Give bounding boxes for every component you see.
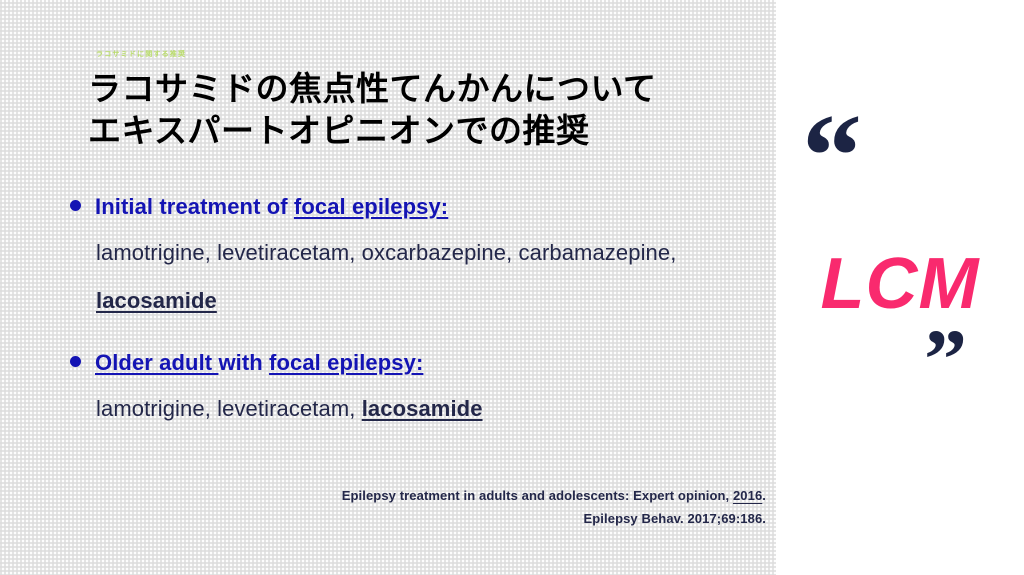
bullet-1-highlighted-drug: lacosamide: [96, 288, 217, 313]
bullet-dot-icon: [70, 200, 81, 211]
bullet-2-highlighted-drug: lacosamide: [362, 396, 483, 421]
bullet-1-heading-underlined: focal epilepsy:: [294, 194, 448, 219]
bullet-2-heading-underlined-2: focal epilepsy:: [269, 350, 423, 375]
citation-line-1-period: .: [762, 488, 766, 503]
citation-year: 2016: [733, 488, 762, 503]
bullet-2-heading-underlined-1: Older adult: [95, 350, 218, 375]
bullet-dot-icon: [70, 356, 81, 367]
citation-line-1-text: Epilepsy treatment in adults and adolesc…: [342, 488, 733, 503]
slide-canvas: ラコサミドに関する推奨 ラコサミドの焦点性てんかんについて エキスパートオピニオ…: [0, 0, 1024, 575]
page-title-line-1: ラコサミドの焦点性てんかんについて: [88, 68, 748, 110]
bullet-2-drug-list: lamotrigine, levetiracetam,: [96, 396, 362, 421]
left-content-area: ラコサミドに関する推奨 ラコサミドの焦点性てんかんについて エキスパートオピニオ…: [0, 0, 1024, 575]
bullet-2-heading: Older adult with focal epilepsy:: [95, 350, 423, 376]
eyebrow-label: ラコサミドに関する推奨: [96, 49, 186, 60]
citation-line-2: Epilepsy Behav. 2017;69:186.: [342, 507, 766, 530]
page-title: ラコサミドの焦点性てんかんについて エキスパートオピニオンでの推奨: [88, 68, 748, 152]
page-title-line-2: エキスパートオピニオンでの推奨: [88, 110, 748, 152]
citation-block: Epilepsy treatment in adults and adolesc…: [342, 484, 766, 530]
bullet-1-drug-list: lamotrigine, levetiracetam, oxcarbazepin…: [96, 240, 676, 265]
citation-line-1: Epilepsy treatment in adults and adolesc…: [342, 484, 766, 507]
bullet-item-initial-treatment: Initial treatment of focal epilepsy:: [70, 194, 448, 220]
bullet-item-older-adult: Older adult with focal epilepsy:: [70, 350, 423, 376]
bullet-2-drug-line-1: lamotrigine, levetiracetam, lacosamide: [96, 396, 483, 422]
bullet-1-drug-line-2: lacosamide: [96, 288, 217, 314]
bullet-1-heading-plain: Initial treatment of: [95, 194, 294, 219]
bullet-1-heading: Initial treatment of focal epilepsy:: [95, 194, 448, 220]
bullet-1-drug-line-1: lamotrigine, levetiracetam, oxcarbazepin…: [96, 240, 676, 266]
bullet-2-heading-plain: with: [218, 350, 269, 375]
